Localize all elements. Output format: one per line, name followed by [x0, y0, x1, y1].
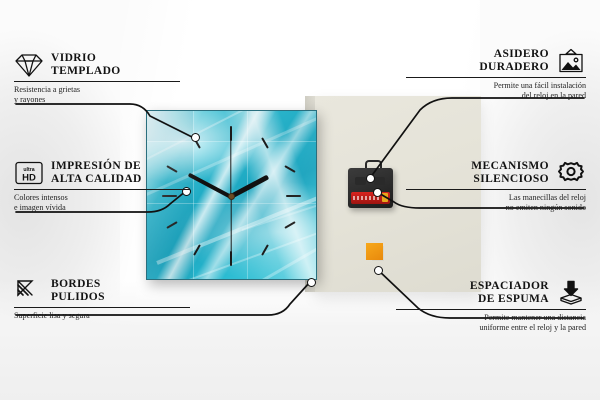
feature-asidero-duradero: ASIDERO DURADERO Permite una fácil insta…: [406, 48, 586, 102]
feature-divider: [406, 189, 586, 190]
foam-spacer: [366, 243, 383, 260]
feature-title-line1: VIDRIO: [51, 52, 121, 65]
connector-node-mecanismo: [373, 188, 382, 197]
feature-heading: MECANISMO SILENCIOSO: [406, 160, 586, 186]
feature-title-line2: PULIDOS: [51, 291, 105, 304]
feature-title-line1: IMPRESIÓN DE: [51, 160, 142, 173]
gear-icon: [556, 160, 586, 186]
feature-desc-line1: Permite una fácil instalación: [406, 81, 586, 91]
infographic-canvas: VIDRIO TEMPLADO Resistencia a grietas y …: [0, 0, 600, 400]
mechanism-button: [355, 177, 366, 185]
feature-desc-line1: Resistencia a grietas: [14, 85, 194, 95]
feature-heading: ESPACIADOR DE ESPUMA: [396, 280, 586, 306]
connector-node-bordes: [307, 278, 316, 287]
feature-mecanismo-silencioso: MECANISMO SILENCIOSO Las manecillas del …: [406, 160, 586, 214]
hanging-frame-icon: [556, 48, 586, 74]
feature-desc-line2: no emiten ningún sonido: [406, 203, 586, 213]
mechanism-button: [374, 177, 385, 185]
feature-bordes-pulidos: BORDES PULIDOS Superficie lisa y segura: [14, 278, 204, 321]
feature-desc-line2: uniforme entre el reloj y la pared: [396, 323, 586, 333]
feature-title-line1: BORDES: [51, 278, 105, 291]
feature-heading: ultra HD IMPRESIÓN DE ALTA CALIDAD: [14, 160, 204, 186]
feature-heading: ASIDERO DURADERO: [406, 48, 586, 74]
connector-node-espaciador: [374, 266, 383, 275]
feature-divider: [14, 307, 190, 308]
battery-plus-terminal: [382, 193, 388, 202]
feature-title-line1: ESPACIADOR: [396, 280, 549, 293]
diamond-icon: [14, 52, 44, 78]
feature-title-line2: DURADERO: [479, 61, 549, 74]
feature-divider: [396, 309, 586, 310]
feature-impresion-alta-calidad: ultra HD IMPRESIÓN DE ALTA CALIDAD Color…: [14, 160, 204, 214]
feature-desc-line1: Las manecillas del reloj: [406, 193, 586, 203]
connector-node-vidrio: [191, 133, 200, 142]
press-foam-icon: [556, 280, 586, 306]
feature-divider: [406, 77, 586, 78]
svg-text:HD: HD: [22, 173, 36, 184]
feature-desc-line2: e imagen vívida: [14, 203, 204, 213]
polished-edges-icon: [14, 278, 44, 304]
feature-title-line2: DE ESPUMA: [396, 293, 549, 306]
feature-desc-line1: Superficie lisa y segura: [14, 311, 204, 321]
feature-vidrio-templado: VIDRIO TEMPLADO Resistencia a grietas y …: [14, 52, 194, 106]
feature-desc-line2: del reloj en la pared: [406, 91, 586, 101]
feature-title-line2: ALTA CALIDAD: [51, 173, 142, 186]
feature-desc-line1: Permite mantener una distancia: [396, 313, 586, 323]
feature-desc-line1: Colores intensos: [14, 193, 204, 203]
feature-espaciador-espuma: ESPACIADOR DE ESPUMA Permite mantener un…: [396, 280, 586, 334]
connector-node-asidero: [366, 174, 375, 183]
feature-divider: [14, 189, 190, 190]
feature-divider: [14, 81, 180, 82]
feature-title-line2: SILENCIOSO: [471, 173, 549, 186]
feature-heading: VIDRIO TEMPLADO: [14, 52, 194, 78]
feature-desc-line2: y rayones: [14, 95, 194, 105]
feature-title-line2: TEMPLADO: [51, 65, 121, 78]
feature-title-line1: ASIDERO: [479, 48, 549, 61]
feature-title-line1: MECANISMO: [471, 160, 549, 173]
ultra-hd-icon: ultra HD: [14, 160, 44, 186]
feature-heading: BORDES PULIDOS: [14, 278, 204, 304]
